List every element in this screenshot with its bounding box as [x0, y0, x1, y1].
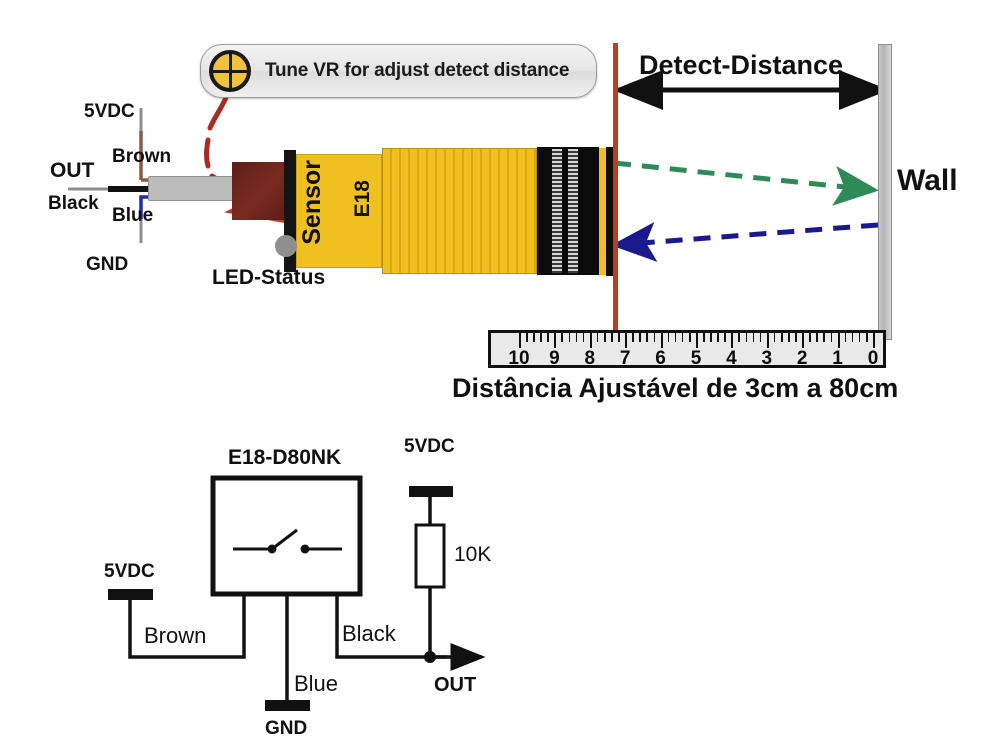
- wire-brown-top: [141, 108, 148, 180]
- emit-beam: [614, 163, 874, 190]
- schematic-gnd-terminal: [265, 700, 310, 711]
- measurement-origin-line: [613, 43, 618, 340]
- schematic-device-box: [213, 478, 360, 594]
- label-detect-distance: Detect-Distance: [639, 52, 843, 79]
- schematic-black-label: Black: [342, 623, 396, 645]
- label-led-status: LED-Status: [212, 267, 325, 288]
- schematic-out-label: OUT: [434, 675, 476, 695]
- sensor-cable-boot: [232, 162, 286, 220]
- label-sensor-body: Sensor: [300, 160, 325, 245]
- schematic-resistor-label: 10K: [454, 544, 491, 565]
- ruler-number: 0: [868, 348, 879, 370]
- sensor-cable: [148, 176, 236, 201]
- ruler-number: 6: [655, 348, 666, 370]
- ruler-number: 1: [832, 348, 843, 370]
- schematic-out-node: [424, 651, 436, 663]
- return-beam: [616, 225, 878, 245]
- ruler-number: 9: [549, 348, 560, 370]
- ruler-number: 10: [508, 348, 529, 370]
- label-sensor-model: E18: [352, 180, 373, 217]
- schematic-gnd-label: GND: [265, 719, 307, 738]
- label-5vdc-top: 5VDC: [84, 102, 135, 121]
- potentiometer-crosshair-icon[interactable]: [209, 50, 251, 92]
- caption-distance-range: Distância Ajustável de 3cm a 80cm: [452, 375, 898, 402]
- label-gnd-top: GND: [86, 255, 128, 274]
- schematic-5vdc-left-label: 5VDC: [104, 562, 155, 581]
- tune-vr-callout[interactable]: Tune VR for adjust detect distance: [200, 44, 597, 98]
- label-blue-top: Blue: [112, 206, 153, 225]
- sensor-lens-ribs-2: [568, 149, 578, 273]
- ruler-number: 8: [585, 348, 596, 370]
- ruler-number: 2: [797, 348, 808, 370]
- schematic-5vdc-label: 5VDC: [404, 437, 455, 456]
- wall-surface: [878, 44, 892, 340]
- label-out-top: OUT: [50, 160, 94, 181]
- schematic-5vdc-terminal: [409, 486, 453, 497]
- schematic-blue-label: Blue: [294, 673, 338, 695]
- sensor-barrel: [382, 148, 537, 274]
- sensor-led-indicator: [275, 235, 297, 257]
- diagram-canvas: Tune VR for adjust detect distance 5VDC …: [0, 0, 1004, 755]
- tune-vr-callout-text: Tune VR for adjust detect distance: [265, 60, 569, 82]
- label-black-top: Black: [48, 194, 99, 213]
- schematic-device-label: E18-D80NK: [228, 447, 341, 468]
- ruler-numbers: 109876543210: [491, 333, 883, 365]
- schematic-resistor: [416, 525, 444, 587]
- ruler-number: 7: [620, 348, 631, 370]
- ruler-number: 4: [726, 348, 737, 370]
- label-brown-top: Brown: [112, 147, 171, 166]
- sensor-lens-ribs: [552, 149, 562, 273]
- schematic-5vdc-left-terminal: [108, 589, 153, 600]
- label-wall: Wall: [897, 166, 958, 196]
- schematic-wires: [130, 478, 482, 702]
- ruler: 109876543210: [488, 330, 886, 368]
- ruler-number: 5: [691, 348, 702, 370]
- ruler-number: 3: [762, 348, 773, 370]
- schematic-brown-label: Brown: [144, 625, 206, 647]
